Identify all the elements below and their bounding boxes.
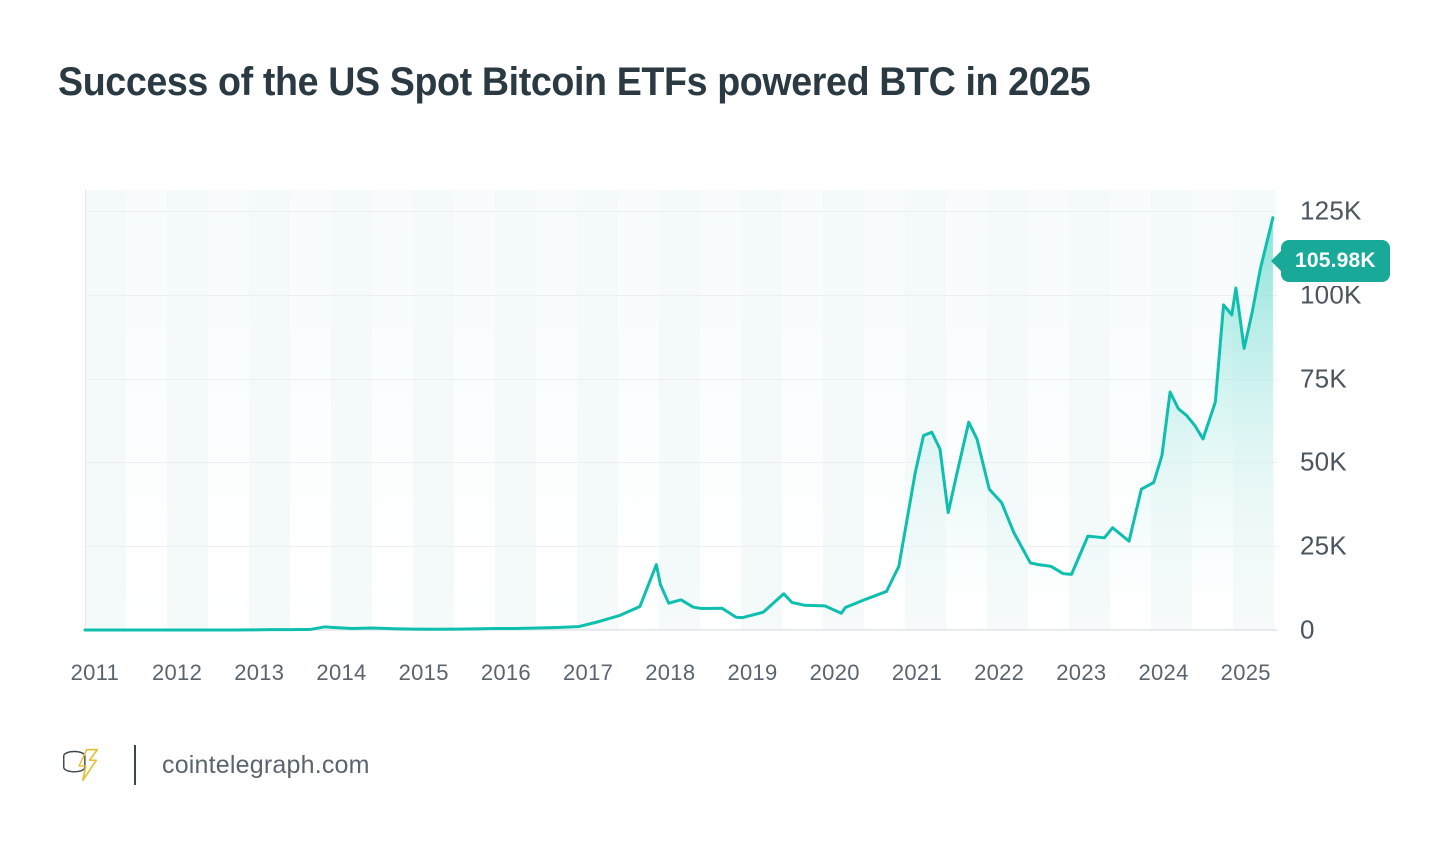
price-line-series: [85, 190, 1277, 630]
y-axis-tick-label: 25K: [1300, 531, 1347, 562]
x-axis-tick-label: 2018: [645, 660, 695, 686]
y-axis-tick-label: 125K: [1300, 195, 1362, 226]
x-axis-tick-label: 2019: [727, 660, 777, 686]
x-axis-tick-label: 2014: [316, 660, 366, 686]
btc-price-chart: 025K50K75K100K125K 201120122013201420152…: [0, 0, 1450, 720]
x-axis-tick-label: 2023: [1056, 660, 1106, 686]
x-axis-tick-label: 2016: [481, 660, 531, 686]
x-axis-tick-label: 2022: [974, 660, 1024, 686]
cointelegraph-logo-icon: [58, 742, 104, 788]
x-axis-tick-label: 2017: [563, 660, 613, 686]
x-axis-tick-label: 2025: [1221, 660, 1271, 686]
x-axis-tick-label: 2021: [892, 660, 942, 686]
y-axis-tick-label: 75K: [1300, 363, 1347, 394]
x-axis-tick-label: 2015: [399, 660, 449, 686]
y-axis-tick-label: 50K: [1300, 447, 1347, 478]
y-axis-labels: 025K50K75K100K125K: [1300, 0, 1420, 720]
y-axis-tick-label: 0: [1300, 615, 1315, 646]
infographic-page: Success of the US Spot Bitcoin ETFs powe…: [0, 0, 1450, 846]
x-axis-tick-label: 2011: [71, 660, 120, 686]
footer-site-label: cointelegraph.com: [162, 751, 370, 780]
footer-divider: [134, 745, 136, 785]
y-axis-tick-label: 100K: [1300, 279, 1362, 310]
footer: cointelegraph.com: [58, 735, 370, 795]
x-axis-labels: 2011201220132014201520162017201820192020…: [0, 660, 1450, 700]
x-axis-tick-label: 2020: [810, 660, 860, 686]
x-axis-tick-label: 2013: [234, 660, 284, 686]
x-axis-tick-label: 2012: [152, 660, 202, 686]
plot-area: [85, 190, 1277, 630]
x-axis-tick-label: 2024: [1138, 660, 1188, 686]
price-area-fill: [85, 218, 1273, 630]
current-price-badge: 105.98K: [1281, 240, 1390, 282]
